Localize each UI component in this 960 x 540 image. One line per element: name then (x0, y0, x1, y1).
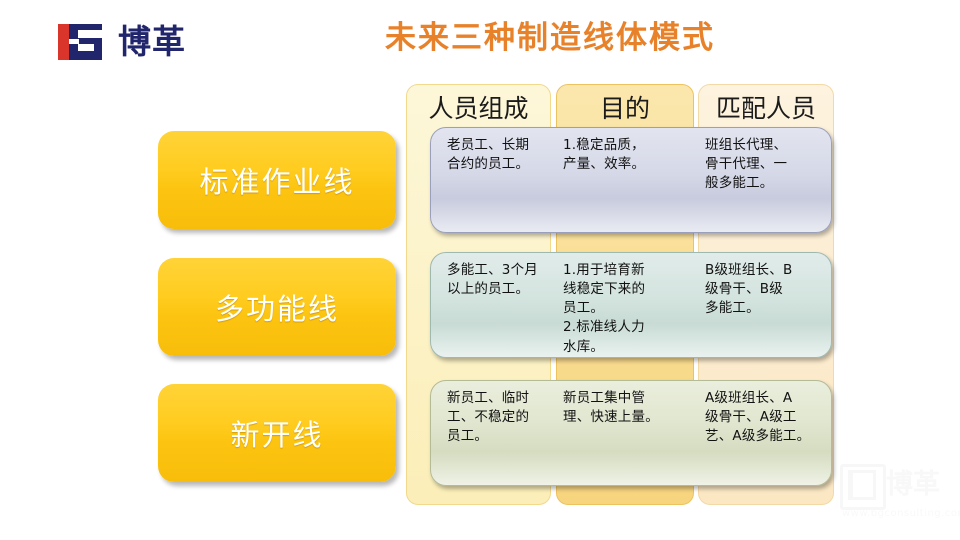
cell-r1-c1: 老员工、长期 合约的员工。 (413, 136, 571, 228)
column-header-purpose: 目的 (557, 85, 693, 129)
row-label-multifunction-line: 多功能线 (158, 258, 396, 356)
slide-canvas: 博革 未来三种制造线体模式 人员组成 目的 匹配人员 老员工、长期 合约的员工。… (0, 0, 960, 540)
cell-r2-c3: B级班组长、B 级骨干、B级 多能工。 (699, 261, 833, 353)
table-row: 老员工、长期 合约的员工。 1.稳定品质， 产量、效率。 班组长代理、 骨干代理… (430, 127, 832, 233)
table-row: 多能工、3个月 以上的员工。 1.用于培育新 线稳定下来的 员工。 2.标准线人… (430, 252, 832, 358)
cell-r3-c2: 新员工集中管 理、快速上量。 (557, 389, 693, 481)
watermark-url: www.bgconsulting.com (842, 508, 960, 519)
brand-logo-text: 博革 (118, 22, 186, 62)
row-label-standard-line: 标准作业线 (158, 131, 396, 229)
cell-r3-c1: 新员工、临时 工、不稳定的 员工。 (413, 389, 571, 481)
table-row: 新员工、临时 工、不稳定的 员工。 新员工集中管 理、快速上量。 A级班组长、A… (430, 380, 832, 486)
watermark: 博革 www.bgconsulting.com (840, 462, 946, 528)
column-header-personnel: 人员组成 (407, 85, 550, 129)
column-header-matching: 匹配人员 (699, 85, 833, 129)
cell-r2-c1: 多能工、3个月 以上的员工。 (413, 261, 571, 353)
cell-r2-c2: 1.用于培育新 线稳定下来的 员工。 2.标准线人力 水库。 (557, 261, 693, 353)
cell-r1-c2: 1.稳定品质， 产量、效率。 (557, 136, 693, 228)
brand-logo: 博革 (58, 18, 218, 66)
watermark-text: 博革 (886, 466, 940, 504)
page-title: 未来三种制造线体模式 (330, 14, 770, 62)
cell-r3-c3: A级班组长、A 级骨干、A级工 艺、A级多能工。 (699, 389, 833, 481)
row-label-new-line: 新开线 (158, 384, 396, 482)
bg-monogram-icon (58, 22, 110, 62)
cell-r1-c3: 班组长代理、 骨干代理、一 般多能工。 (699, 136, 833, 228)
